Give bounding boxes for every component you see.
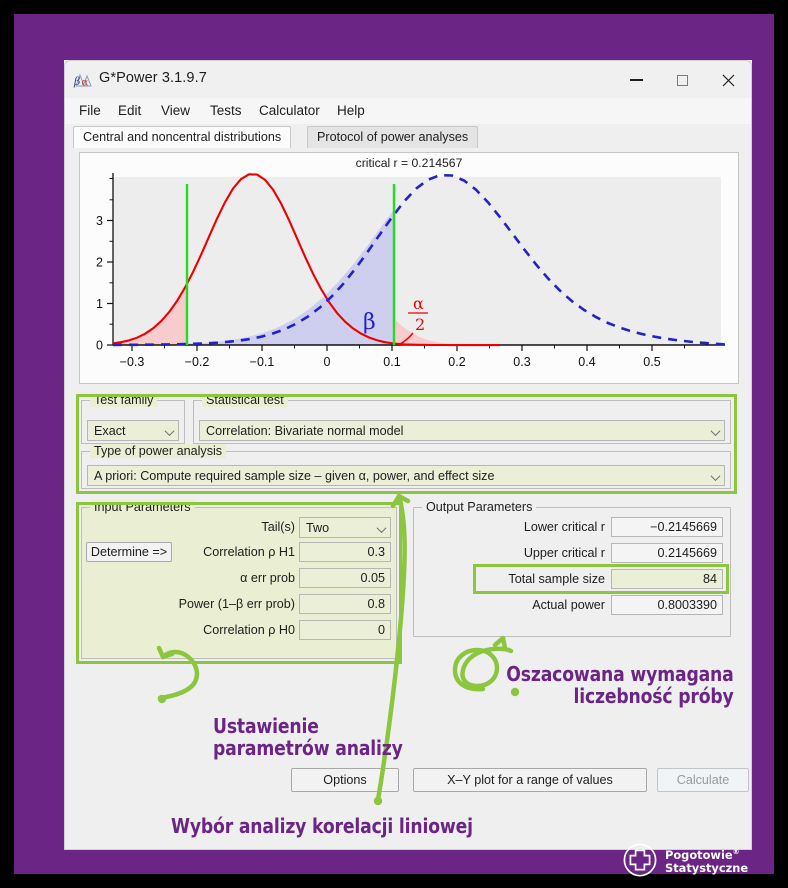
title-bar: β α G*Power 3.1.9.7 bbox=[64, 60, 752, 98]
output-label-upper-critical-r: Upper critical r bbox=[445, 546, 605, 560]
cross-circle-logo-icon bbox=[622, 842, 658, 883]
output-label-total-sample-size: Total sample size bbox=[445, 572, 605, 586]
svg-text:0.2: 0.2 bbox=[448, 355, 465, 369]
svg-text:α: α bbox=[413, 294, 424, 313]
power-input[interactable]: 0.8 bbox=[299, 594, 391, 614]
maximize-icon[interactable] bbox=[659, 61, 705, 99]
annotation-analysis-choice: Wybór analizy korelacji liniowej bbox=[171, 816, 473, 838]
input-parameters-title: Input Parameters bbox=[90, 500, 195, 514]
brand-line2: Statystyczne bbox=[665, 861, 748, 875]
svg-text:α: α bbox=[82, 78, 89, 89]
tails-value: Two bbox=[306, 521, 329, 535]
gpower-icon: β α bbox=[73, 70, 93, 90]
menu-bar: File Edit View Tests Calculator Help bbox=[64, 98, 752, 124]
svg-text:−0.3: −0.3 bbox=[120, 355, 145, 369]
menu-tests[interactable]: Tests bbox=[204, 101, 248, 121]
annotation-analysis-choice-line1: Wybór analizy korelacji liniowej bbox=[171, 816, 473, 838]
test-family-select[interactable]: Exact bbox=[87, 420, 179, 441]
close-icon[interactable] bbox=[705, 61, 751, 99]
menu-view[interactable]: View bbox=[155, 101, 196, 121]
svg-text:3: 3 bbox=[96, 214, 103, 228]
tab-strip: Central and noncentral distributions Pro… bbox=[64, 124, 752, 148]
svg-text:β: β bbox=[363, 310, 376, 335]
total-sample-size-value: 84 bbox=[611, 569, 723, 589]
chevron-down-icon bbox=[712, 474, 719, 481]
tab-central-and-noncentral-distributions[interactable]: Central and noncentral distributions bbox=[73, 126, 291, 148]
menu-edit[interactable]: Edit bbox=[112, 101, 147, 121]
brand-logo: Pogotowie® Statystyczne bbox=[622, 840, 762, 884]
lower-critical-r-value: −0.2145669 bbox=[611, 517, 723, 537]
determine-button[interactable]: Determine => bbox=[86, 542, 172, 562]
annotation-params-line1: Ustawienie bbox=[213, 716, 403, 738]
annotation-params: Ustawienie parametrów analizy bbox=[213, 716, 403, 759]
chevron-down-icon bbox=[712, 429, 719, 436]
upper-critical-r-value: 0.2145669 bbox=[611, 543, 723, 563]
chevron-down-icon bbox=[378, 526, 385, 533]
output-label-lower-critical-r: Lower critical r bbox=[445, 520, 605, 534]
calculate-button[interactable]: Calculate bbox=[657, 768, 749, 792]
distribution-plot-panel[interactable]: critical r = 0.214567 bbox=[79, 152, 739, 384]
decorative-frame: β α G*Power 3.1.9.7 File Edit View Tes bbox=[14, 14, 774, 874]
input-label-tails: Tail(s) bbox=[145, 520, 295, 534]
annotation-sample-size: Oszacowana wymagana liczebność próby bbox=[507, 664, 734, 707]
test-family-label: Test family bbox=[90, 393, 157, 407]
statistical-test-select[interactable]: Correlation: Bivariate normal model bbox=[199, 420, 725, 441]
input-label-correlation-rho-h1: Correlation ρ H1 bbox=[175, 545, 295, 559]
input-label-correlation-rho-h0: Correlation ρ H0 bbox=[175, 623, 295, 637]
svg-text:0.3: 0.3 bbox=[513, 355, 530, 369]
svg-text:0: 0 bbox=[324, 355, 331, 369]
svg-text:0.1: 0.1 bbox=[383, 355, 400, 369]
brand-line1: Pogotowie bbox=[665, 848, 733, 862]
svg-text:0.5: 0.5 bbox=[643, 355, 660, 369]
power-analysis-type-label: Type of power analysis bbox=[90, 444, 226, 458]
minimize-icon[interactable] bbox=[613, 61, 659, 99]
menu-help[interactable]: Help bbox=[331, 101, 371, 121]
input-label-alpha-err-prob: α err prob bbox=[175, 571, 295, 585]
tails-select[interactable]: Two bbox=[299, 517, 391, 538]
svg-text:β: β bbox=[73, 75, 80, 88]
menu-calculator[interactable]: Calculator bbox=[253, 101, 326, 121]
correlation-rho-h1-input[interactable]: 0.3 bbox=[299, 542, 391, 562]
alpha-err-prob-input[interactable]: 0.05 bbox=[299, 568, 391, 588]
test-family-value: Exact bbox=[94, 424, 126, 438]
svg-text:1: 1 bbox=[96, 297, 103, 311]
svg-text:0.4: 0.4 bbox=[578, 355, 595, 369]
svg-text:2: 2 bbox=[415, 315, 425, 334]
output-label-actual-power: Actual power bbox=[445, 598, 605, 612]
options-button[interactable]: Options bbox=[291, 768, 399, 792]
xy-plot-button[interactable]: X–Y plot for a range of values bbox=[413, 768, 647, 792]
distribution-plot: 0 1 2 3 bbox=[80, 153, 738, 383]
app-window: β α G*Power 3.1.9.7 File Edit View Tes bbox=[64, 60, 752, 850]
annotation-params-line2: parametrów analizy bbox=[213, 738, 403, 760]
svg-text:2: 2 bbox=[96, 256, 103, 270]
input-label-power: Power (1–β err prob) bbox=[155, 597, 295, 611]
brand-text: Pogotowie® Statystyczne bbox=[665, 848, 748, 876]
correlation-rho-h0-input[interactable]: 0 bbox=[299, 620, 391, 640]
brand-trademark: ® bbox=[733, 848, 740, 856]
actual-power-value: 0.8003390 bbox=[611, 595, 723, 615]
annotation-sample-size-line1: Oszacowana wymagana bbox=[507, 664, 734, 686]
annotation-sample-size-line2: liczebność próby bbox=[507, 686, 734, 708]
tab-protocol-of-power-analyses[interactable]: Protocol of power analyses bbox=[307, 126, 478, 148]
power-analysis-type-select[interactable]: A priori: Compute required sample size –… bbox=[87, 465, 725, 486]
svg-text:0: 0 bbox=[96, 339, 103, 353]
menu-file[interactable]: File bbox=[73, 101, 107, 121]
chevron-down-icon bbox=[166, 429, 173, 436]
window-title: G*Power 3.1.9.7 bbox=[99, 70, 207, 86]
statistical-test-value: Correlation: Bivariate normal model bbox=[206, 424, 403, 438]
svg-text:−0.1: −0.1 bbox=[250, 355, 275, 369]
svg-text:−0.2: −0.2 bbox=[185, 355, 210, 369]
power-analysis-type-value: A priori: Compute required sample size –… bbox=[94, 469, 494, 483]
statistical-test-label: Statistical test bbox=[202, 393, 288, 407]
client-area: critical r = 0.214567 bbox=[64, 148, 752, 850]
output-parameters-title: Output Parameters bbox=[422, 500, 536, 514]
